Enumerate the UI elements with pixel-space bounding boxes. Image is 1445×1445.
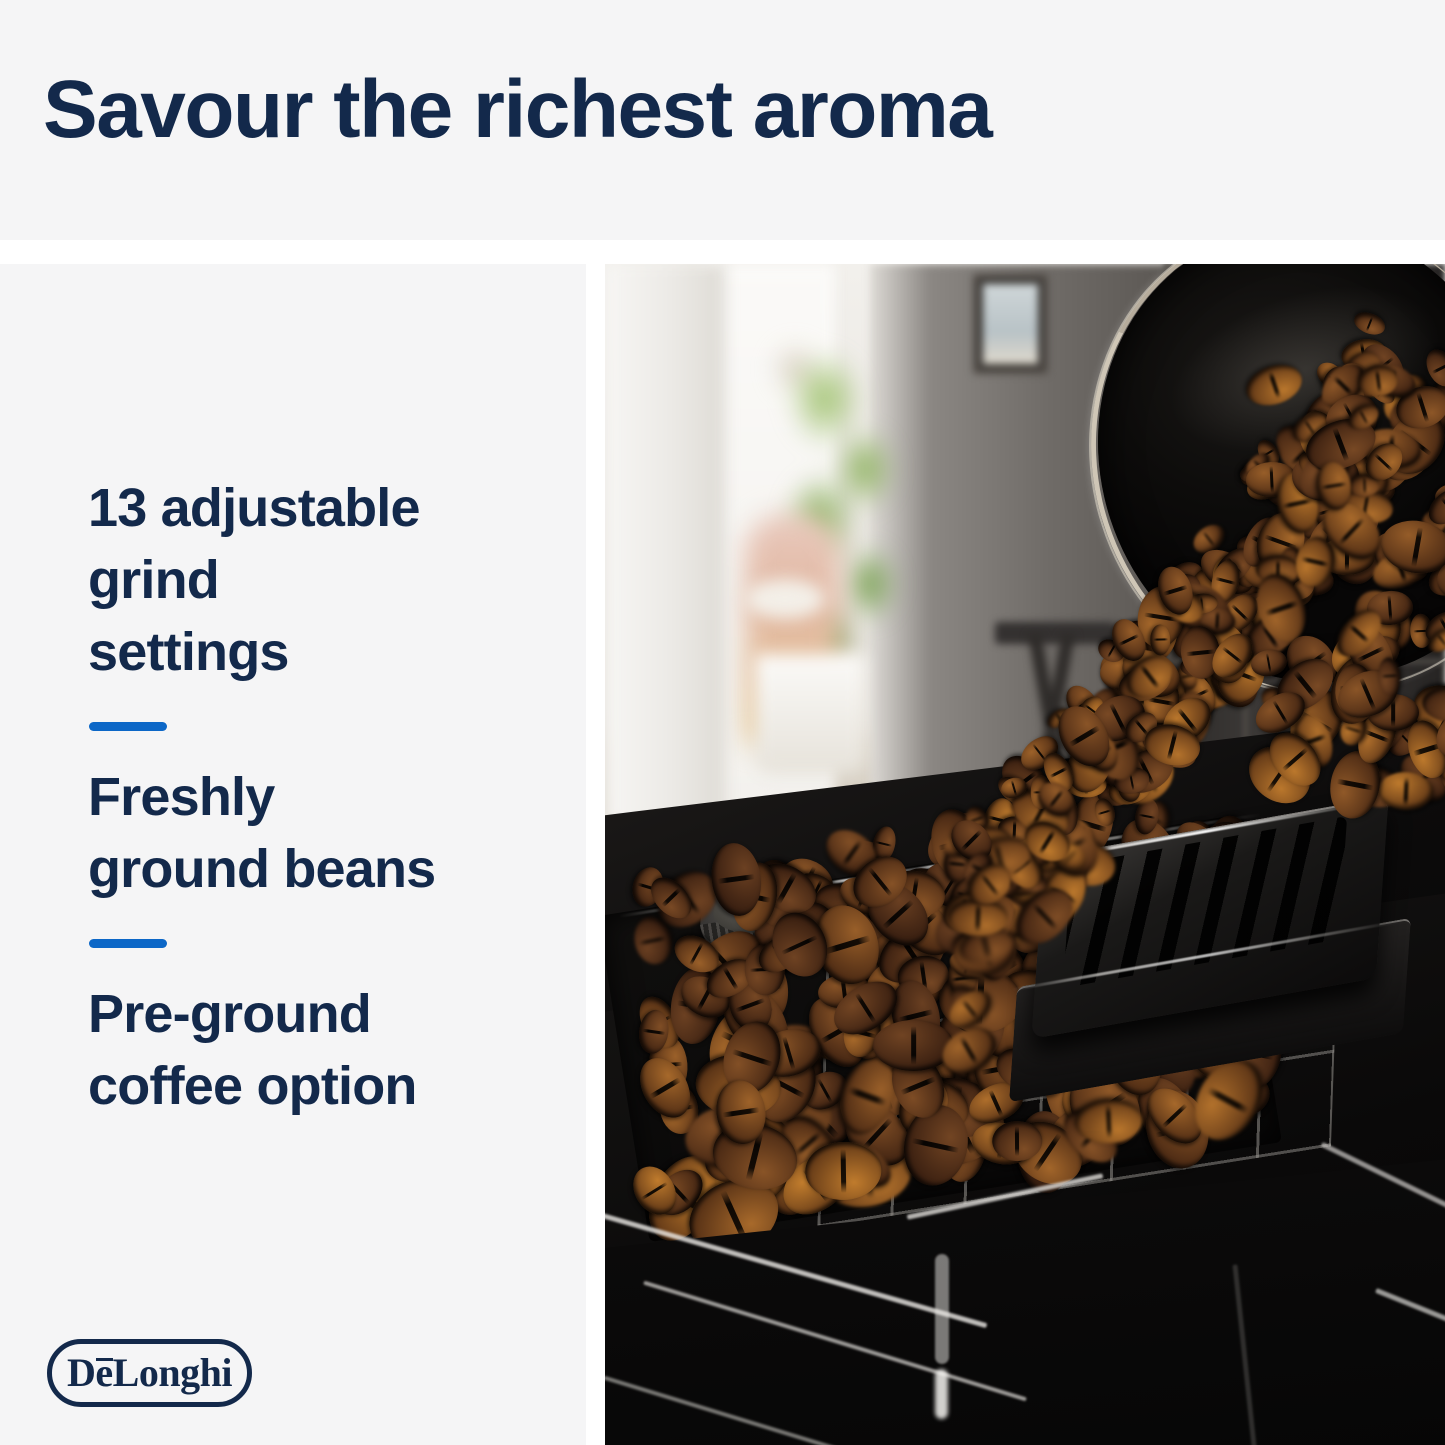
logo-letter-d: D	[67, 1350, 95, 1395]
bean-crease	[732, 1049, 773, 1067]
bean-crease	[947, 862, 967, 867]
bean-crease	[1337, 778, 1375, 790]
bean-crease	[911, 1138, 959, 1154]
bean-crease	[649, 1078, 680, 1099]
bean-crease	[911, 1026, 917, 1065]
bean-crease	[840, 1149, 846, 1193]
bean-crease	[817, 1078, 833, 1103]
bean-crease	[781, 935, 819, 956]
bean-crease	[1364, 729, 1390, 742]
bean-crease	[1139, 665, 1159, 689]
bean-crease	[1348, 624, 1369, 643]
bean-crease	[1039, 830, 1056, 855]
bean-crease	[975, 903, 980, 931]
feature-list: 13 adjustable grind settings Freshly gro…	[88, 472, 508, 1122]
bean-crease	[1015, 1125, 1019, 1155]
coffee-bean	[873, 1020, 954, 1071]
bean-crease	[1272, 700, 1289, 725]
feature-divider-2	[89, 939, 167, 948]
promo-tile: Savour the richest aroma 13 adjustable g…	[0, 0, 1445, 1445]
bean-crease	[1363, 477, 1366, 494]
bean-crease	[1011, 780, 1017, 795]
logo-letter-e: e	[95, 1350, 112, 1395]
bean-crease	[1388, 595, 1393, 621]
bean-crease	[1163, 585, 1188, 596]
bean-crease	[960, 1036, 979, 1065]
bean-crease	[722, 1108, 759, 1118]
bean-crease	[1069, 725, 1100, 746]
coffee-bean	[1150, 624, 1170, 655]
bean-crease	[1375, 370, 1381, 393]
bean-crease	[1432, 362, 1445, 373]
page-title: Savour the richest aroma	[43, 62, 991, 158]
feature-label-2: Freshly ground beans	[88, 761, 508, 905]
person-collar-blur	[745, 579, 825, 619]
plant-pot-blur	[755, 654, 865, 774]
delonghi-logo-text: DeLonghi	[67, 1353, 232, 1393]
bean-crease	[1221, 647, 1243, 665]
bean-crease	[1013, 820, 1016, 839]
bean-crease	[641, 1182, 668, 1201]
feature-label-1: 13 adjustable grind settings	[88, 472, 508, 688]
bean-crease	[776, 872, 796, 903]
bean-crease	[639, 936, 667, 945]
curtain-blur	[605, 264, 725, 824]
bean-crease	[1148, 697, 1175, 705]
bean-crease	[1139, 813, 1157, 819]
bean-crease	[1031, 903, 1057, 931]
bean-crease	[1365, 317, 1373, 332]
bean-crease	[735, 998, 765, 1012]
bean-crease	[1106, 1104, 1112, 1138]
bean-crease	[689, 942, 704, 966]
bean-crease	[1440, 496, 1445, 515]
bean-crease	[848, 1087, 887, 1106]
feature-divider-1	[89, 722, 167, 731]
bean-crease	[1264, 600, 1299, 616]
bean-crease	[1437, 634, 1445, 647]
bean-crease	[1050, 767, 1068, 778]
logo-letters-longhi: Longhi	[113, 1350, 232, 1395]
bean-crease	[1202, 531, 1215, 547]
bean-crease	[1374, 453, 1394, 472]
bean-crease	[854, 992, 876, 1023]
bean-crease	[1207, 1087, 1250, 1114]
bean-crease	[841, 840, 862, 867]
bean-crease	[1411, 527, 1423, 567]
bean-crease	[1266, 653, 1272, 673]
bean-crease	[1344, 725, 1363, 733]
feature-label-3: Pre-ground coffee option	[88, 978, 508, 1122]
bean-crease	[1381, 674, 1398, 678]
bean-crease	[1300, 557, 1329, 567]
bean-crease	[1416, 392, 1429, 423]
bean-crease	[1048, 789, 1064, 808]
feature-panel: 13 adjustable grind settings Freshly gro…	[0, 264, 586, 1445]
bean-crease	[961, 830, 982, 851]
bean-crease	[980, 932, 990, 959]
bean-crease	[782, 1036, 796, 1071]
bean-crease	[1358, 409, 1368, 425]
bean-crease	[1118, 633, 1140, 646]
bean-crease	[723, 967, 739, 990]
bean-crease	[981, 873, 1000, 896]
bean-crease	[718, 875, 755, 885]
droplet-highlight	[935, 1369, 948, 1419]
bean-crease	[643, 1028, 665, 1034]
bean-crease	[1097, 809, 1111, 815]
bean-crease	[1332, 427, 1349, 462]
bean-crease	[1152, 638, 1167, 640]
list-item: Pre-ground coffee option	[88, 978, 508, 1122]
bean-crease	[875, 841, 892, 847]
picture-frame-art-blur	[983, 284, 1038, 364]
bean-crease	[1215, 611, 1219, 631]
bean-crease	[1215, 577, 1236, 585]
bean-crease	[1282, 747, 1309, 771]
bean-crease	[824, 935, 870, 954]
bean-crease	[1186, 649, 1216, 656]
product-photo	[605, 264, 1445, 1445]
bean-crease	[662, 888, 681, 907]
bean-crease	[867, 867, 892, 896]
bean-crease	[1162, 1103, 1188, 1128]
bean-crease	[1283, 498, 1314, 509]
bean-crease	[901, 1077, 937, 1096]
header-band: Savour the richest aroma	[0, 0, 1445, 240]
delonghi-logo: DeLonghi	[47, 1339, 252, 1407]
bean-crease	[1359, 677, 1376, 710]
coffee-bean	[992, 1120, 1043, 1160]
bean-crease	[1334, 376, 1355, 396]
logo-macron-icon	[96, 1358, 113, 1361]
bean-crease	[1338, 516, 1365, 545]
bean-crease	[962, 999, 979, 1019]
list-item: 13 adjustable grind settings	[88, 472, 508, 688]
bean-crease	[1322, 482, 1348, 489]
bean-crease	[1403, 776, 1408, 805]
list-item: Freshly ground beans	[88, 761, 508, 905]
bean-crease	[989, 1090, 1004, 1117]
bean-crease	[1268, 371, 1281, 400]
bean-crease	[1269, 466, 1274, 493]
bean-crease	[1166, 730, 1177, 760]
drip-highlight	[935, 1254, 949, 1364]
